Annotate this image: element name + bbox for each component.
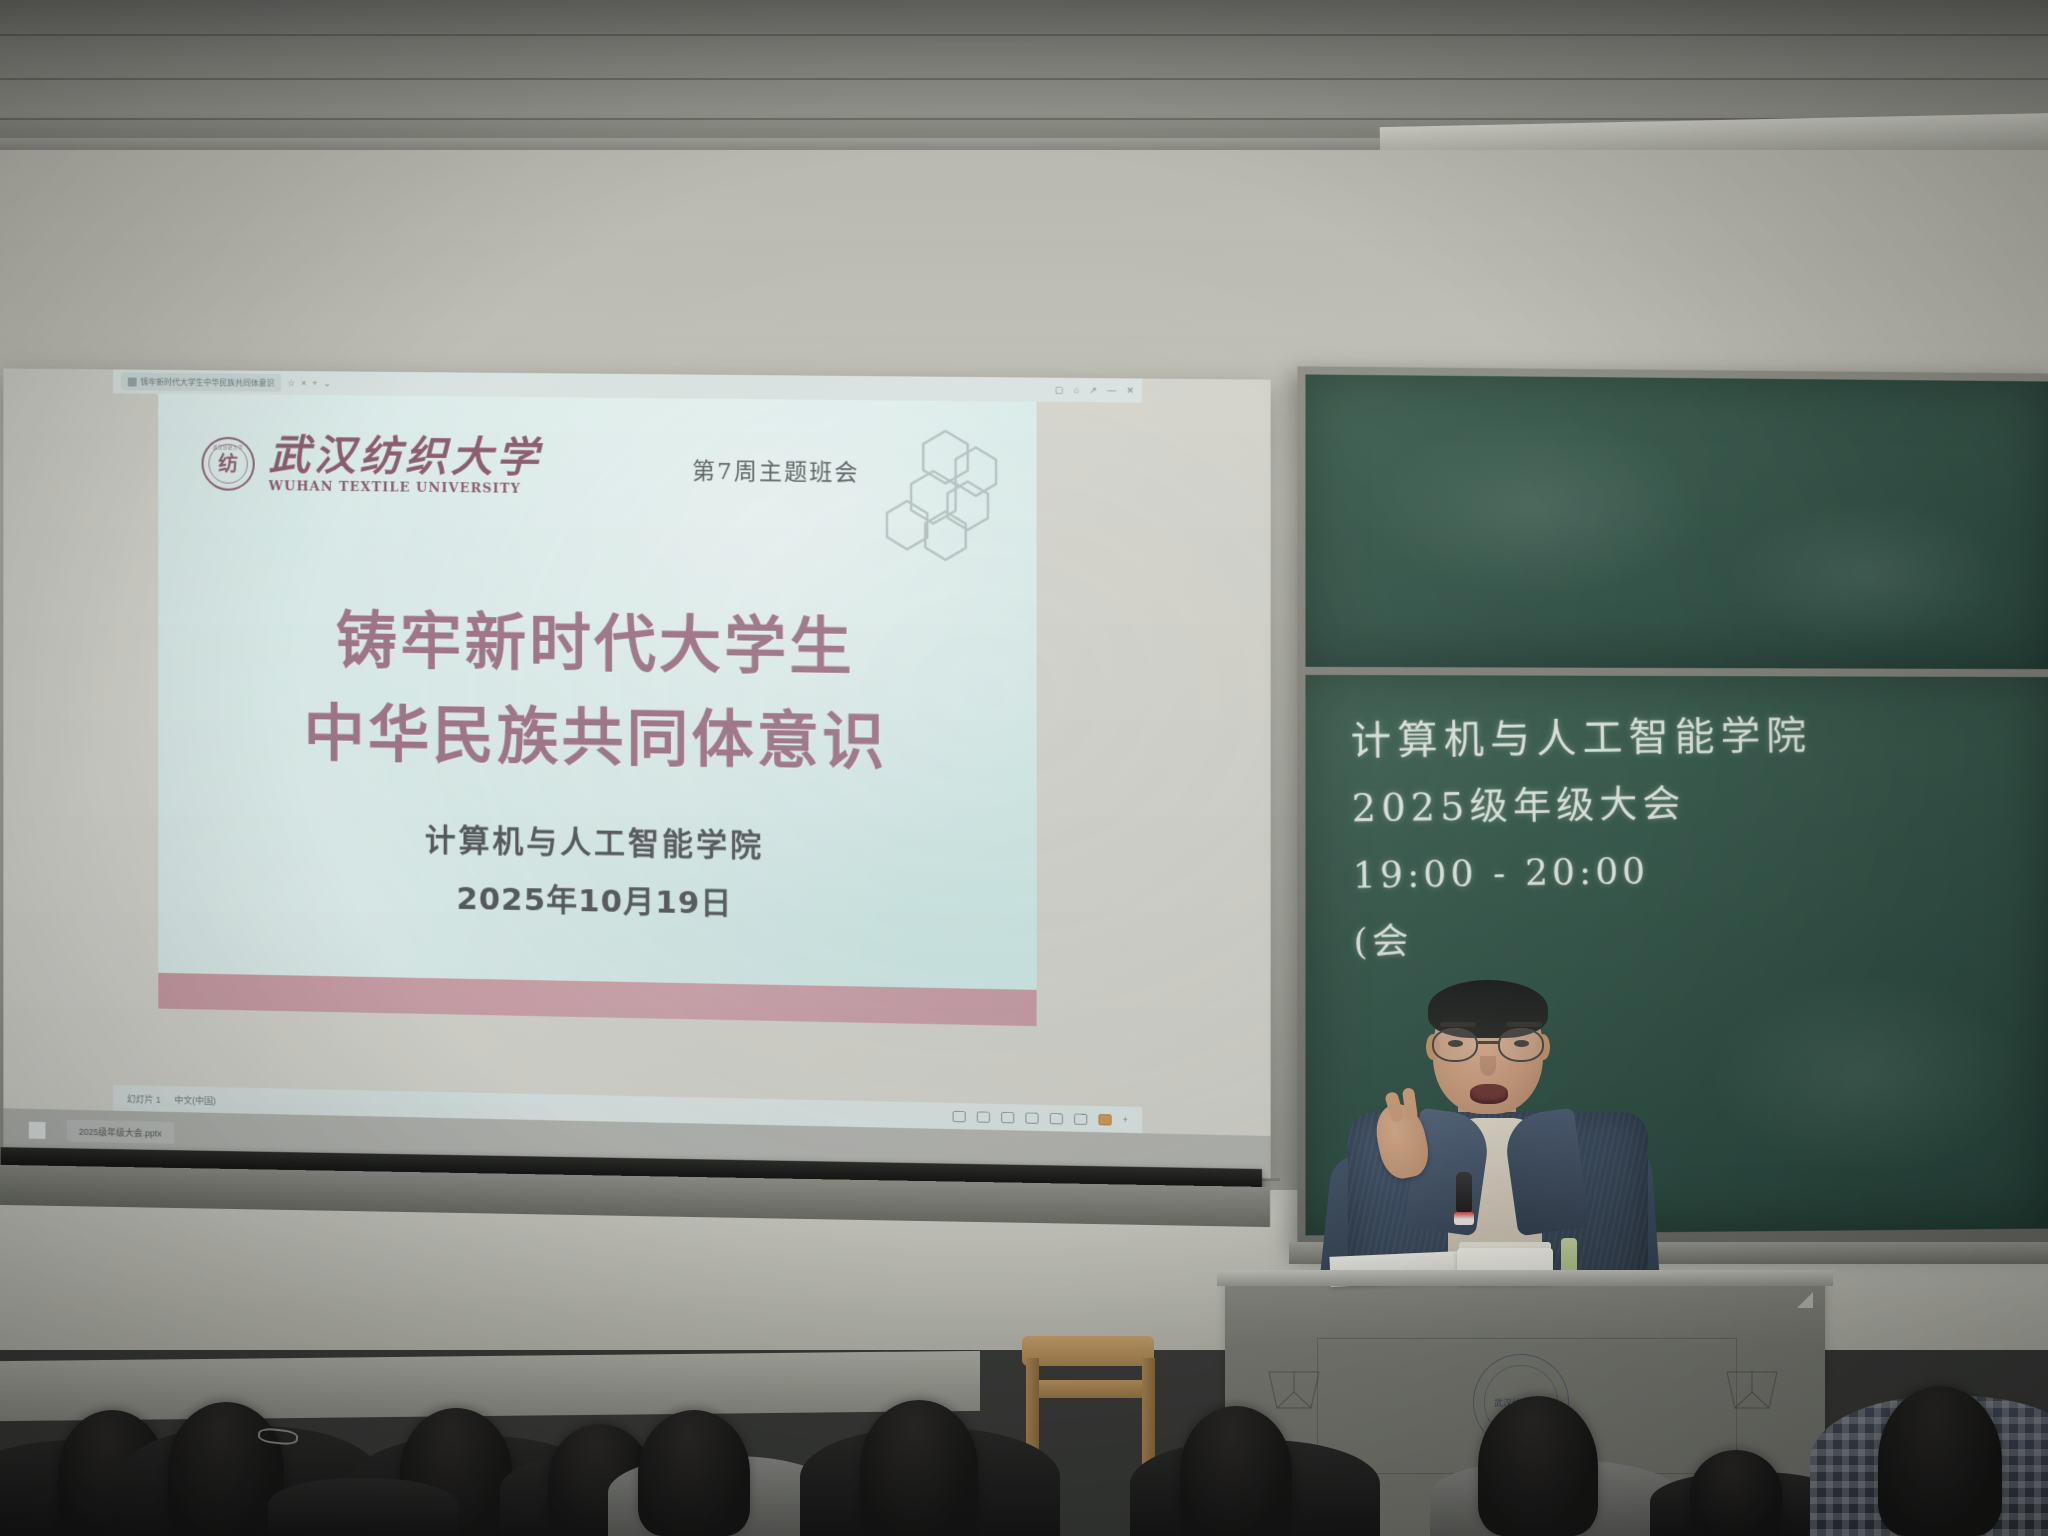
- normal-view-icon[interactable]: [1025, 1112, 1038, 1123]
- windows-logo-icon[interactable]: [29, 1121, 46, 1138]
- chalkboard-writing: 计算机与人工智能学院 2025级年级大会 19:00 - 20:00 (会: [1350, 703, 1815, 974]
- microphone-indicator-icon: [1454, 1212, 1474, 1225]
- close-window-icon[interactable]: ✕: [1126, 386, 1134, 395]
- audience-head: [1180, 1406, 1292, 1536]
- bookmark-icon[interactable]: ▢: [1055, 385, 1064, 394]
- taskbar-window-label: 2025级年级大会.pptx: [79, 1124, 162, 1139]
- crest-arc-text: 武汉纺织大学: [204, 445, 253, 451]
- classroom-scene: 铸牢新时代大学生中华民族共同体意识 ☆ × + ⌄ ▢ ⌂ ↗ — ✕ 武汉纺织…: [0, 0, 2048, 1536]
- week-topic-badge: 第7周主题班会: [692, 452, 859, 488]
- note-icon[interactable]: [952, 1110, 965, 1121]
- audience-shoulders: [268, 1478, 458, 1536]
- projection-screen: 铸牢新时代大学生中华民族共同体意识 ☆ × + ⌄ ▢ ⌂ ↗ — ✕ 武汉纺织…: [3, 368, 1270, 1178]
- minimize-icon[interactable]: —: [1107, 386, 1116, 395]
- chalk-line-4: (会: [1353, 921, 1412, 963]
- chalkboard-upper-panel: [1305, 374, 2048, 669]
- chalk-line-2: 2025级年级大会: [1351, 782, 1685, 831]
- slide-subtitle: 计算机与人工智能学院: [158, 810, 1036, 870]
- audience-rows: [0, 1256, 2048, 1536]
- university-name-en: WUHAN TEXTILE UNIVERSITY: [269, 479, 543, 497]
- browser-tab[interactable]: 铸牢新时代大学生中华民族共同体意识: [121, 372, 281, 391]
- glasses-bridge: [1478, 1041, 1500, 1044]
- share-icon[interactable]: ↗: [1089, 386, 1097, 395]
- accessibility-icon[interactable]: [977, 1111, 990, 1122]
- glasses-lens-left: [1432, 1028, 1478, 1062]
- slide-date: 2025年10月19日: [158, 868, 1036, 929]
- browser-tab-title: 铸牢新时代大学生中华民族共同体意识: [141, 376, 275, 388]
- audience-head: [1478, 1396, 1598, 1536]
- home-icon[interactable]: ⌂: [1074, 385, 1080, 394]
- ceiling-grid-line: [0, 78, 2048, 80]
- language-label: 中文(中国): [175, 1093, 216, 1107]
- audience-head: [1690, 1450, 1782, 1536]
- crest-glyph: 纺: [218, 454, 238, 474]
- audience-head: [1878, 1386, 2002, 1536]
- slide-title-line-2: 中华民族共同体意识: [158, 685, 1036, 793]
- presentation-slide: 武汉纺织大学 纺 武汉纺织大学 WUHAN TEXTILE UNIVERSITY…: [158, 394, 1036, 1027]
- chalk-line-1: 计算机与人工智能学院: [1350, 713, 1812, 765]
- play-icon[interactable]: [1001, 1111, 1014, 1122]
- presenter-eyebrow: [1506, 1022, 1542, 1027]
- star-icon[interactable]: ☆: [287, 378, 295, 387]
- taskbar-window-button[interactable]: 2025级年级大会.pptx: [67, 1120, 174, 1144]
- university-name-block: 武汉纺织大学 WUHAN TEXTILE UNIVERSITY: [269, 434, 543, 497]
- presenter-nose: [1480, 1056, 1496, 1076]
- favicon-icon: [128, 377, 137, 386]
- ceiling-grid-line: [0, 34, 2048, 36]
- slide-title: 铸牢新时代大学生 中华民族共同体意识: [158, 592, 1036, 793]
- zoom-in-icon[interactable]: +: [1123, 1115, 1128, 1125]
- new-tab-icon[interactable]: +: [312, 379, 317, 388]
- audience-head: [860, 1400, 978, 1536]
- reading-view-icon[interactable]: [1074, 1113, 1087, 1124]
- hexagon-decoration-icon: [883, 426, 1010, 568]
- audience-head: [638, 1410, 750, 1536]
- university-crest-icon: 武汉纺织大学 纺: [202, 437, 255, 491]
- slide-index-label: 幻灯片 1: [127, 1092, 161, 1106]
- university-name-cn: 武汉纺织大学: [269, 434, 543, 479]
- audience-head: [168, 1402, 284, 1536]
- slideshow-icon[interactable]: [1098, 1114, 1111, 1125]
- glasses-lens-right: [1498, 1028, 1544, 1062]
- clip-microphone: [1456, 1172, 1472, 1214]
- chevron-down-icon[interactable]: ⌄: [323, 379, 330, 388]
- presenter-eyebrow: [1440, 1022, 1476, 1027]
- close-icon[interactable]: ×: [301, 379, 306, 388]
- slide-title-line-1: 铸牢新时代大学生: [158, 592, 1036, 698]
- presenter-mouth: [1470, 1084, 1508, 1104]
- sorter-view-icon[interactable]: [1049, 1113, 1062, 1124]
- chalk-line-3: 19:00 - 20:00: [1352, 851, 1649, 897]
